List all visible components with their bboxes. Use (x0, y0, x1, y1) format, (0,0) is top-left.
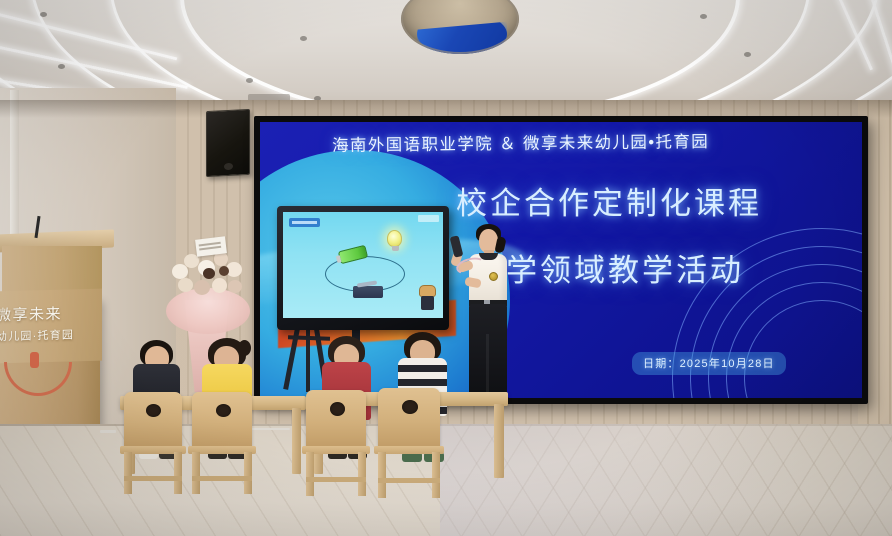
chair-4-back-cutout (402, 400, 418, 414)
ceiling-spotlight (40, 12, 47, 17)
cartoon-body (421, 296, 434, 310)
blossom (194, 280, 210, 295)
floor-light-reflection (440, 424, 892, 536)
floor-cable (250, 428, 290, 430)
switch-icon (353, 286, 383, 298)
floor-cable (100, 430, 116, 433)
chair-3-leg (306, 452, 314, 496)
lightbulb-icon (387, 230, 402, 247)
chair-4-back (378, 388, 440, 448)
bouquet-card (195, 236, 227, 257)
chair-3-leg (358, 452, 366, 496)
photo-scene: 海南外国语职业学院 ＆ 微享未来幼儿园•托育园 校企合作定制化课程 科学领域教学… (0, 0, 892, 536)
teacher-pants (469, 304, 507, 400)
tablet-corner-label (289, 218, 320, 227)
blossom (178, 278, 193, 292)
chair-1-leg (174, 452, 182, 494)
chair-1-back (124, 392, 182, 448)
bouquet-blossoms (170, 250, 248, 306)
led-title-text: 校企合作定制化课程 (456, 178, 762, 223)
ceiling-spotlight (246, 78, 253, 83)
chair-2-back (192, 392, 252, 448)
ceiling-spotlight (58, 64, 65, 69)
cartoon-character-icon (418, 285, 437, 310)
chair-1-back-cutout (146, 404, 161, 417)
chair-4-leg (432, 452, 440, 498)
podium-brand-subname: 幼儿园·托育园 (0, 326, 100, 345)
podium-brand-name: 微享未来 (0, 302, 100, 326)
table-left-leg (292, 408, 301, 474)
led-header-text: 海南外国语职业学院 ＆ 微享未来幼儿园•托育园 (332, 128, 709, 156)
chair-3-rung (306, 477, 366, 482)
blossom-dark (203, 268, 215, 279)
chair-4-leg (378, 452, 386, 498)
chair-2-leg (244, 452, 252, 494)
chair-3-back (306, 390, 366, 448)
chair-2-back-cutout (216, 404, 231, 417)
tablet-status-strip (418, 215, 439, 222)
chair-1-leg (124, 452, 132, 494)
blossom (228, 280, 242, 293)
ceiling-spotlight (744, 52, 751, 57)
blossom (212, 278, 227, 293)
teacher-badge (489, 272, 498, 281)
led-date-badge: 日期：2025年10月28日 (632, 352, 786, 375)
ceiling-spotlight (300, 36, 307, 41)
led-subtitle-text: 科学领域教学活动 (472, 245, 744, 290)
blossom-dark (219, 266, 229, 276)
chair-4-rung (378, 478, 440, 483)
podium-decal-shape (30, 352, 39, 368)
table-right-leg (494, 404, 504, 478)
child-2-hair-tuft (238, 340, 251, 356)
ceiling-spotlight (700, 14, 707, 19)
tablet-screen[interactable] (283, 212, 443, 318)
chair-3-back-cutout (330, 402, 345, 416)
chair-2-rung (192, 476, 252, 481)
chair-1-rung (124, 476, 182, 481)
wall-speaker (206, 109, 250, 177)
chair-2-leg (192, 452, 200, 494)
